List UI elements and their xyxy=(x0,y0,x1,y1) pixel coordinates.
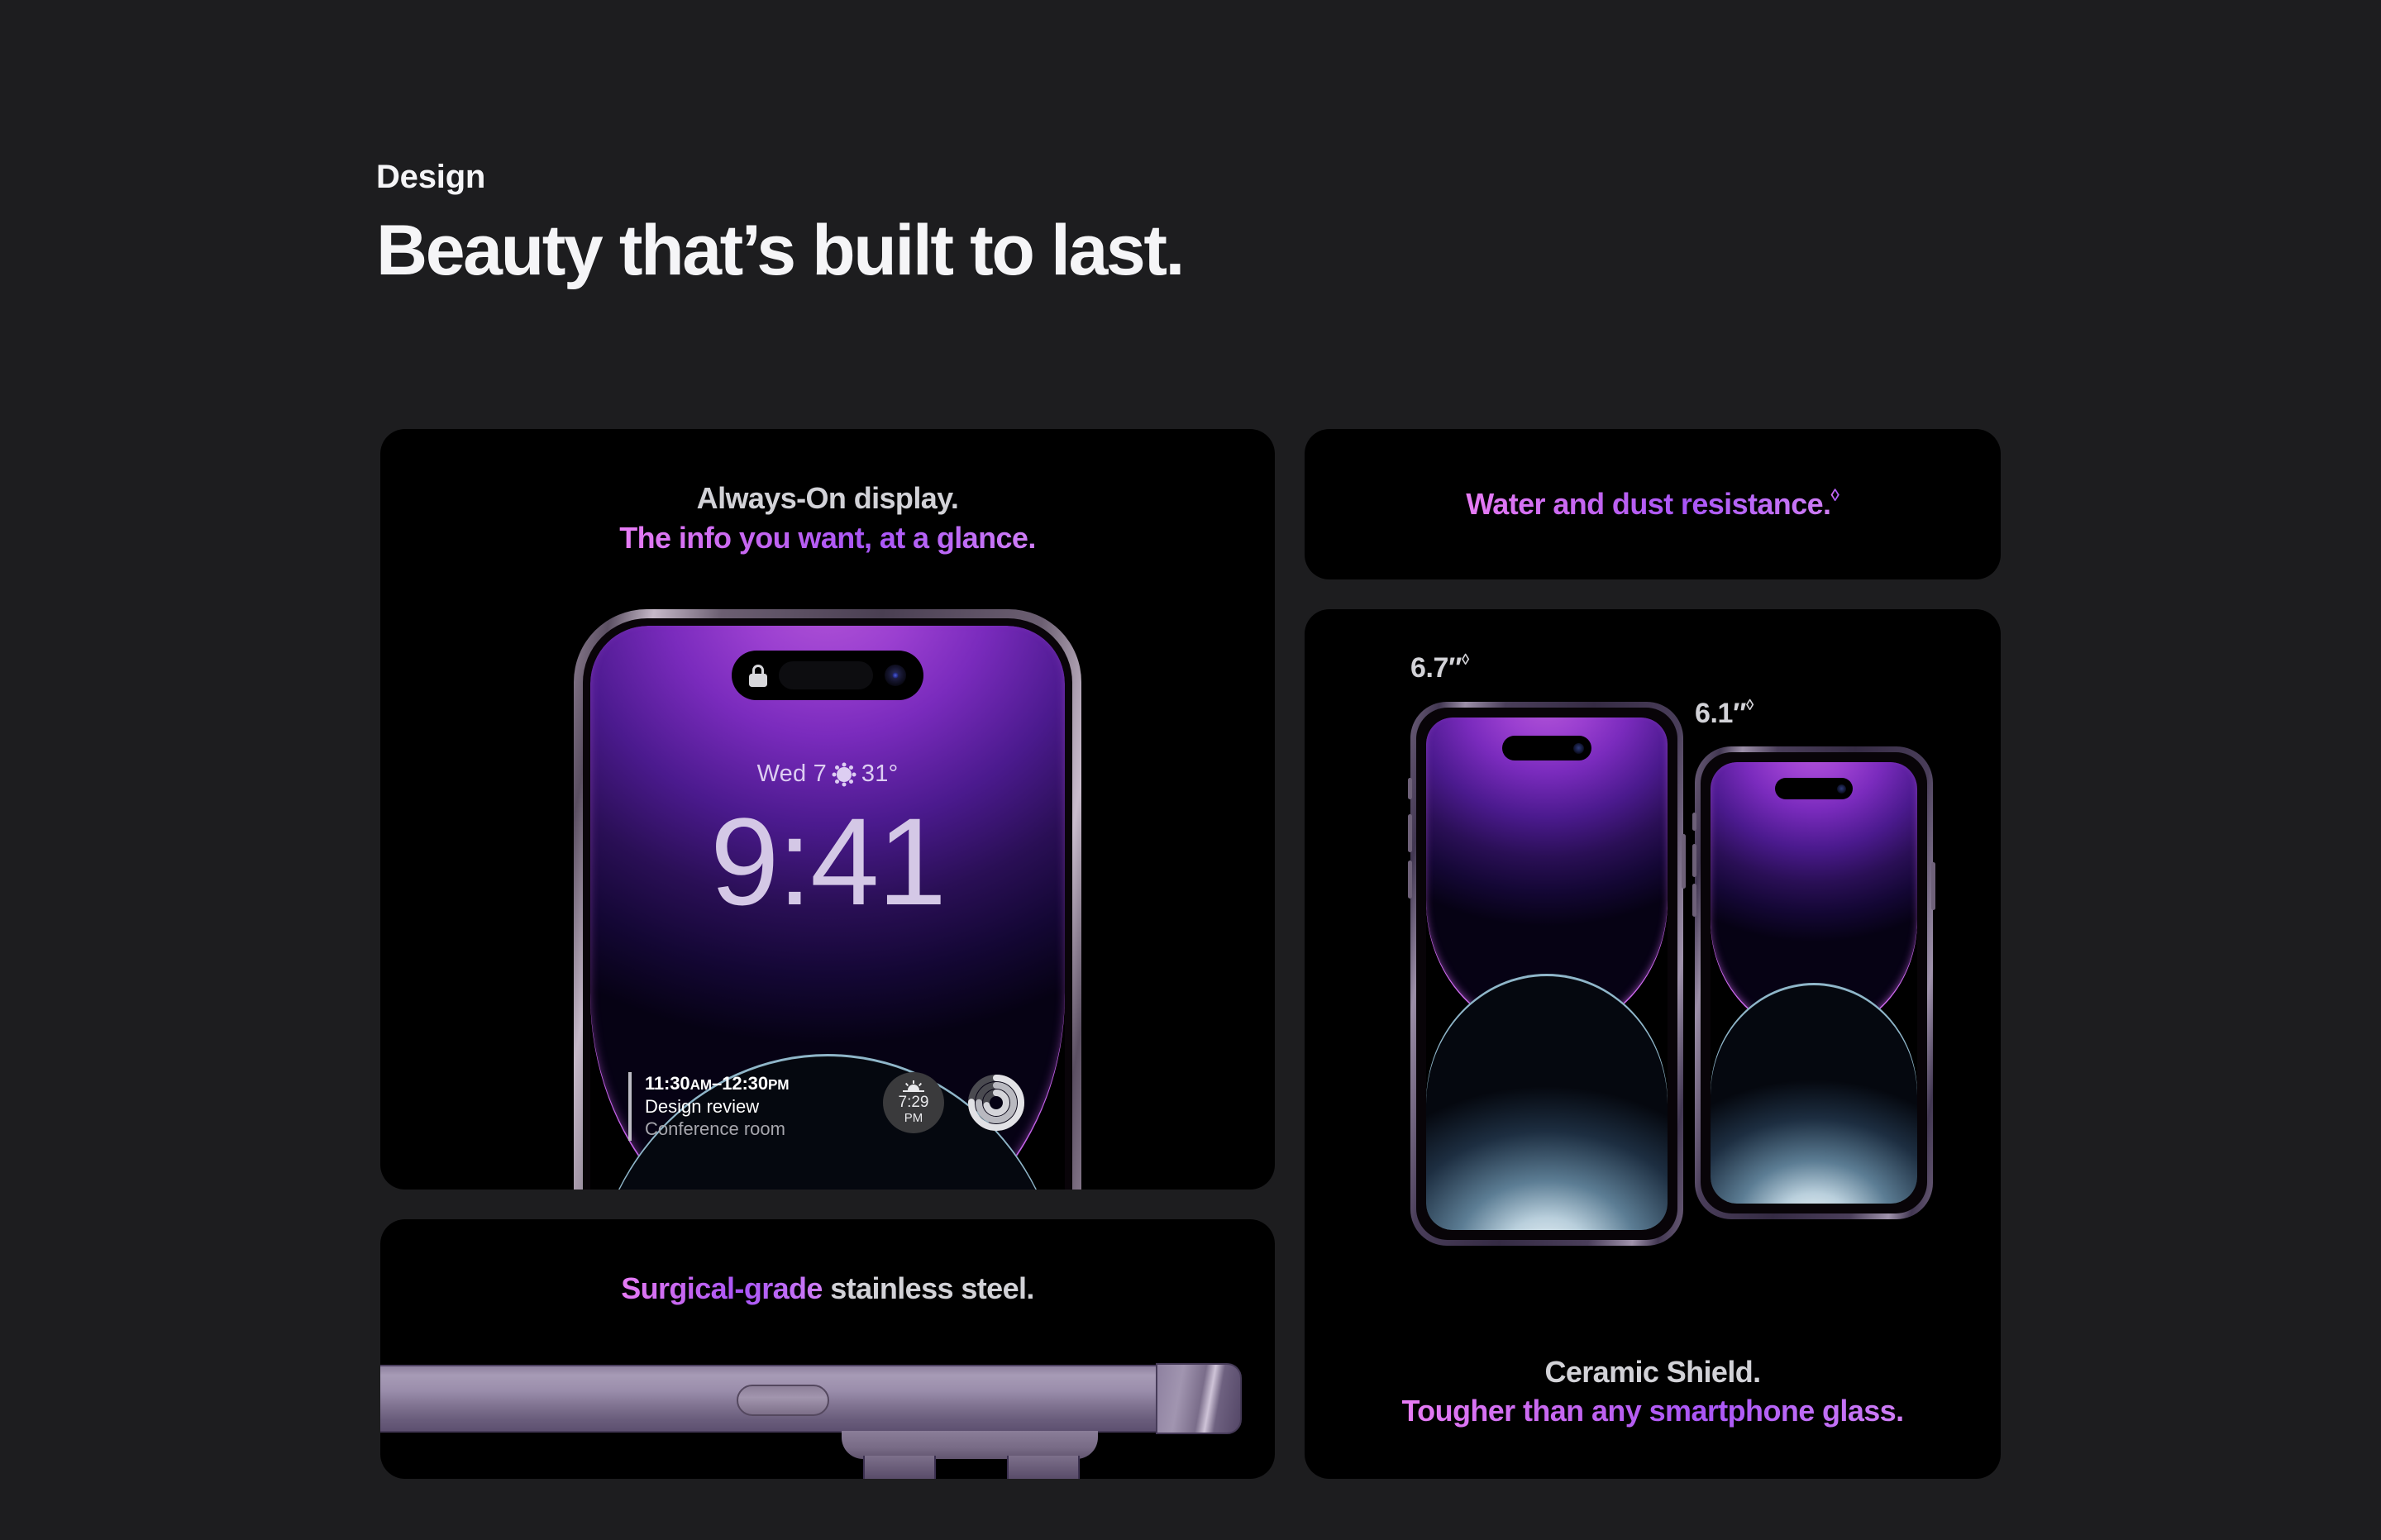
island-pill xyxy=(779,661,873,689)
front-camera-lens-icon xyxy=(1837,784,1846,794)
lockscreen-clock: 9:41 xyxy=(590,799,1065,923)
phone-screen xyxy=(1426,718,1668,1230)
phone-size-comparison: 6.7″◊ 6.1″◊ xyxy=(1305,609,2001,1355)
shield-caption-line2: Tougher than any smartphone glass. xyxy=(1401,1391,1903,1431)
dynamic-island xyxy=(1775,778,1853,799)
always-on-caption: Always-On display. The info you want, at… xyxy=(380,479,1275,557)
power-button xyxy=(1682,834,1686,889)
sunset-time: 7:29 xyxy=(899,1094,929,1111)
sun-icon xyxy=(837,767,852,782)
card-stainless-steel[interactable]: Surgical-grade stainless steel. xyxy=(380,1219,1275,1479)
water-caption-text: Water and dust resistance. xyxy=(1466,484,1830,524)
volume-down-button xyxy=(1408,861,1412,899)
lock-icon xyxy=(749,665,767,687)
phone-screen: Wed 7 31° 9:41 11:30AM–12:30PM Design re… xyxy=(590,626,1065,1190)
volume-down-button xyxy=(1692,884,1696,917)
size-label-small-value: 6.1″ xyxy=(1695,698,1746,729)
calendar-widget-location: Conference room xyxy=(645,1118,861,1141)
lockscreen-widgets: 11:30AM–12:30PM Design review Conference… xyxy=(628,1072,1027,1141)
activity-rings-icon[interactable] xyxy=(966,1072,1027,1133)
sunset-meridiem: PM xyxy=(904,1112,923,1125)
lockscreen-date-weather: Wed 7 31° xyxy=(590,760,1065,788)
card-water-dust-resistance[interactable]: Water and dust resistance.◊ xyxy=(1305,429,2001,579)
lockscreen-temperature: 31° xyxy=(861,760,898,788)
page-title: Beauty that’s built to last. xyxy=(376,213,1183,288)
size-label-large-footnote: ◊ xyxy=(1462,651,1469,668)
phone-screen xyxy=(1711,762,1917,1204)
phone-mockup-small xyxy=(1695,746,1933,1219)
steel-caption-accent: Surgical-grade xyxy=(621,1269,823,1309)
side-button xyxy=(737,1385,829,1416)
calendar-widget-title: Design review xyxy=(645,1095,861,1118)
always-on-caption-line2: The info you want, at a glance. xyxy=(619,518,1035,558)
water-caption: Water and dust resistance.◊ xyxy=(1305,484,2001,524)
card-ceramic-shield[interactable]: 6.7″◊ 6.1″◊ xyxy=(1305,609,2001,1479)
size-label-large: 6.7″◊ xyxy=(1410,651,1469,684)
phone-bezel xyxy=(1416,708,1677,1240)
steel-caption: Surgical-grade stainless steel. xyxy=(380,1269,1275,1309)
size-label-small: 6.1″◊ xyxy=(1695,696,1754,730)
size-label-large-value: 6.7″ xyxy=(1410,652,1462,684)
wallpaper-reflection xyxy=(1426,974,1668,1230)
power-button xyxy=(1931,862,1935,910)
camera-lens-1 xyxy=(863,1456,936,1479)
volume-up-button xyxy=(1692,844,1696,877)
dynamic-island xyxy=(732,651,923,700)
mute-switch xyxy=(1408,778,1412,799)
section-header: Design Beauty that’s built to last. xyxy=(376,159,1183,288)
front-camera-lens-icon xyxy=(885,665,906,686)
always-on-caption-line1: Always-On display. xyxy=(380,479,1275,518)
dynamic-island xyxy=(1502,736,1591,760)
always-on-phone-mockup: Wed 7 31° 9:41 11:30AM–12:30PM Design re… xyxy=(574,609,1081,1190)
steel-caption-rest: stainless steel. xyxy=(823,1271,1034,1305)
calendar-widget-time: 11:30AM–12:30PM xyxy=(645,1072,861,1095)
phone-bezel xyxy=(1701,752,1927,1213)
feature-card-grid: Always-On display. The info you want, at… xyxy=(380,429,2001,1479)
sunset-widget[interactable]: 7:29 PM xyxy=(883,1072,944,1133)
shield-caption: Ceramic Shield. Tougher than any smartph… xyxy=(1305,1352,2001,1431)
camera-plateau xyxy=(842,1431,1098,1459)
steel-band xyxy=(380,1365,1162,1433)
size-label-small-footnote: ◊ xyxy=(1746,696,1754,713)
sunset-icon xyxy=(903,1081,924,1092)
water-footnote-marker: ◊ xyxy=(1830,485,1839,508)
lockscreen-date: Wed 7 xyxy=(757,760,827,788)
right-card-column: Water and dust resistance.◊ 6.7″◊ 6.1″◊ xyxy=(1305,429,2001,1479)
phone-mockup-large xyxy=(1410,702,1683,1246)
eyebrow-label: Design xyxy=(376,159,1183,195)
steel-corner xyxy=(1156,1363,1242,1434)
shield-caption-line1: Ceramic Shield. xyxy=(1305,1352,2001,1392)
card-always-on-display[interactable]: Always-On display. The info you want, at… xyxy=(380,429,1275,1190)
design-section: Design Beauty that’s built to last. Alwa… xyxy=(0,0,2381,1540)
calendar-widget[interactable]: 11:30AM–12:30PM Design review Conference… xyxy=(628,1072,861,1141)
front-camera-lens-icon xyxy=(1573,743,1584,754)
wallpaper-reflection xyxy=(1711,983,1917,1204)
mute-switch xyxy=(1692,813,1696,831)
volume-up-button xyxy=(1408,814,1412,852)
camera-lens-2 xyxy=(1007,1456,1080,1479)
iphone-side-edge-image xyxy=(380,1365,1242,1479)
